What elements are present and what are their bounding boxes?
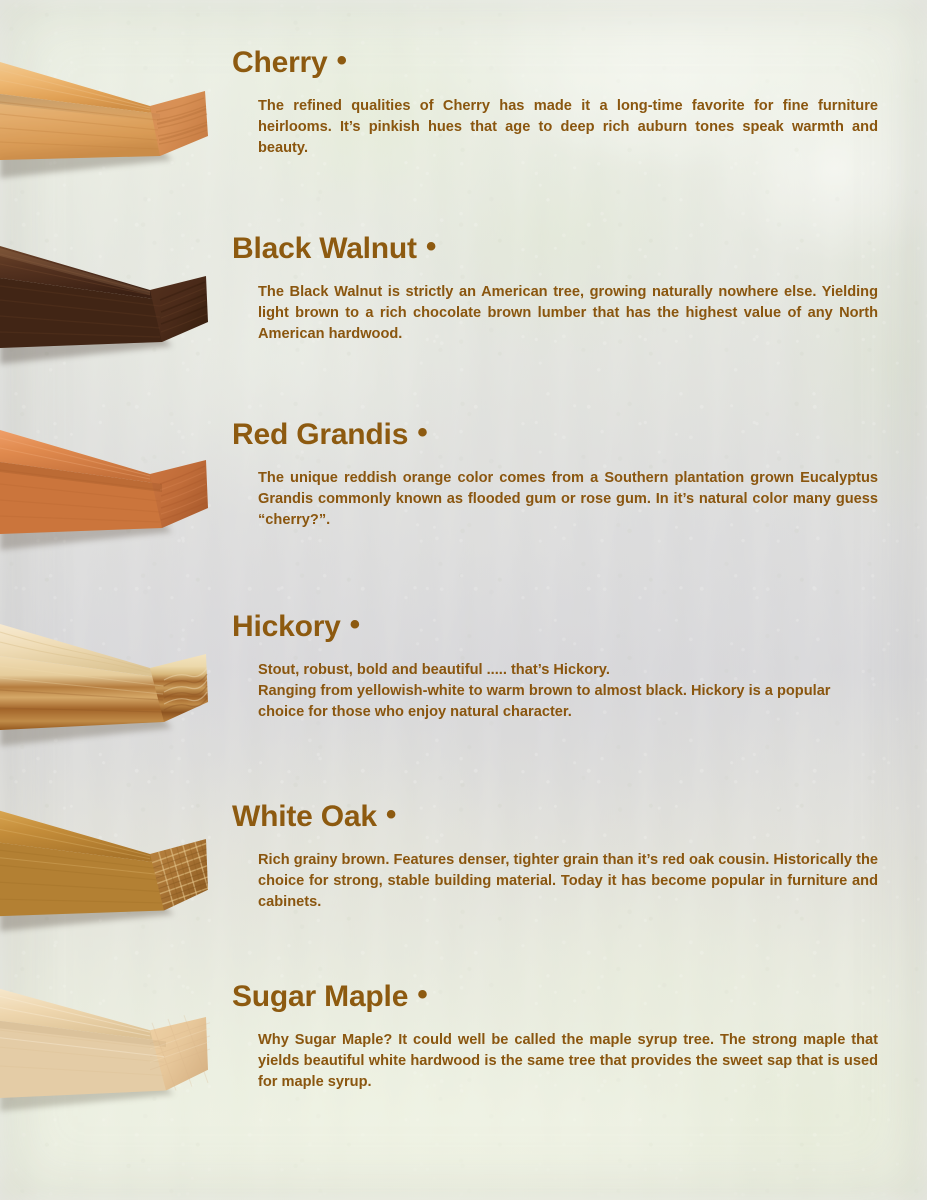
sugar-maple-text-block: Sugar Maple• Why Sugar Maple? It could w… [232,980,892,1093]
cherry-lumber-sample [0,36,215,196]
hardwood-species-page: Cherry• The refined qualities of Cherry … [0,0,927,1200]
white-oak-description: Rich grainy brown. Features denser, tigh… [258,850,878,914]
species-bullet-icon: • [386,800,396,830]
species-name-cherry: Cherry• [232,46,892,79]
species-name-text: White Oak [232,800,377,833]
description-text: Rich grainy brown. Features denser, tigh… [258,850,878,914]
species-name-hickory: Hickory• [232,610,892,643]
cherry-text-block: Cherry• The refined qualities of Cherry … [232,46,892,159]
species-bullet-icon: • [417,418,427,448]
description-text: Why Sugar Maple? It could well be called… [258,1030,878,1094]
white-oak-lumber-sample [0,790,215,950]
red-grandis-description: The unique reddish orange color comes fr… [258,468,878,532]
description-line-2: Ranging from yellowish-white to warm bro… [258,681,878,724]
description-text: The refined qualities of Cherry has made… [258,96,878,160]
species-name-text: Cherry [232,46,328,79]
description-line-1: Stout, robust, bold and beautiful ..... … [258,660,878,681]
species-name-white-oak: White Oak• [232,800,892,833]
black-walnut-lumber-sample [0,222,215,382]
species-name-text: Hickory [232,610,341,643]
red-grandis-lumber-sample [0,408,215,568]
cherry-description: The refined qualities of Cherry has made… [258,96,878,160]
sugar-maple-lumber-sample [0,970,215,1130]
description-text: The unique reddish orange color comes fr… [258,468,878,532]
species-name-text: Sugar Maple [232,980,408,1013]
white-oak-text-block: White Oak• Rich grainy brown. Features d… [232,800,892,913]
species-name-text: Black Walnut [232,232,417,265]
hickory-description: Stout, robust, bold and beautiful ..... … [258,660,878,724]
species-bullet-icon: • [417,980,427,1010]
black-walnut-text-block: Black Walnut• The Black Walnut is strict… [232,232,892,345]
species-bullet-icon: • [426,232,436,262]
description-text: The Black Walnut is strictly an American… [258,282,878,346]
black-walnut-description: The Black Walnut is strictly an American… [258,282,878,346]
species-name-text: Red Grandis [232,418,408,451]
species-bullet-icon: • [337,46,347,76]
species-list: Cherry• The refined qualities of Cherry … [0,0,927,1200]
hickory-lumber-sample [0,604,215,764]
species-bullet-icon: • [350,610,360,640]
species-name-sugar-maple: Sugar Maple• [232,980,892,1013]
species-name-red-grandis: Red Grandis• [232,418,892,451]
species-name-black-walnut: Black Walnut• [232,232,892,265]
sugar-maple-description: Why Sugar Maple? It could well be called… [258,1030,878,1094]
red-grandis-text-block: Red Grandis• The unique reddish orange c… [232,418,892,531]
hickory-text-block: Hickory• Stout, robust, bold and beautif… [232,610,892,723]
